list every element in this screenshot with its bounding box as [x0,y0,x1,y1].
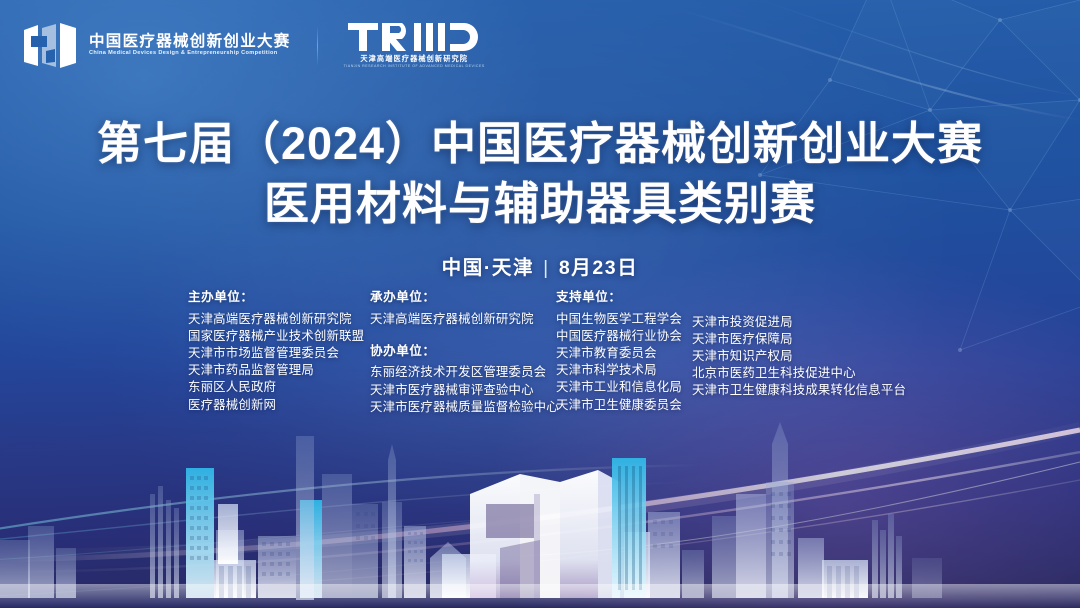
list-item: 医疗器械创新网 [188,397,370,414]
organizer-column-support-b: 天津市投资促进局 天津市医疗保障局 天津市知识产权局 北京市医药卫生科技促进中心… [692,291,906,416]
list-item: 天津市医疗保障局 [692,331,906,348]
co-organizer-heading: 协办单位： [370,345,556,358]
list-item: 天津市教育委员会 [556,345,692,362]
list-item: 天津市医疗器械质量监督检验中心 [370,399,556,416]
list-item: 天津市投资促进局 [692,314,906,331]
section-spacer [370,328,556,345]
competition-logo-cn: 中国医疗器械创新创业大赛 [89,34,291,50]
list-item: 国家医疗器械产业技术创新联盟 [188,328,370,345]
organizer-column-host: 主办单位： 天津高端医疗器械创新研究院 国家医疗器械产业技术创新联盟 天津市市场… [188,291,370,416]
list-item: 天津市医疗器械审评查验中心 [370,382,556,399]
host-heading: 主办单位： [188,291,370,304]
list-item: 天津市知识产权局 [692,348,906,365]
list-item: 东丽经济技术开发区管理委员会 [370,364,556,381]
list-item: 北京市医药卫生科技促进中心 [692,365,906,382]
open-door-logo-icon [22,22,78,69]
meta-separator: | [543,257,550,280]
trimd-logo[interactable]: 天津高端医疗器械创新研究院 TIANJIN RESEARCH INSTITUTE… [344,22,485,69]
event-meta: 中国·天津|8月23日 [0,251,1080,280]
list-item: 天津市卫生健康科技成果转化信息平台 [692,382,906,399]
trimd-logo-en: TIANJIN RESEARCH INSTITUTE OF ADVANCED M… [344,65,485,69]
poster-canvas: 中国医疗器械创新创业大赛 China Medical Devices Desig… [0,0,1080,608]
list-item: 天津市卫生健康委员会 [556,397,692,414]
competition-logo[interactable]: 中国医疗器械创新创业大赛 China Medical Devices Desig… [22,22,291,69]
organizer-column-organizer: 承办单位： 天津高端医疗器械创新研究院 协办单位： 东丽经济技术开发区管理委员会… [370,291,556,416]
city-skyline-illustration [0,408,1080,608]
main-title-line-2: 医用材料与辅助器具类别赛 [0,178,1080,230]
event-date: 8月23日 [559,257,639,279]
gate-monument-icon [470,470,620,598]
trimd-wordmark-icon [348,22,480,52]
organizer-block: 主办单位： 天津高端医疗器械创新研究院 国家医疗器械产业技术创新联盟 天津市市场… [188,291,906,416]
logo-divider [317,26,318,66]
support-heading: 支持单位： [556,291,692,304]
list-item: 天津高端医疗器械创新研究院 [188,311,370,328]
list-item: 天津市工业和信息化局 [556,379,692,396]
header-logos: 中国医疗器械创新创业大赛 China Medical Devices Desig… [22,22,485,69]
organizer-column-support-a: 支持单位： 中国生物医学工程学会 中国医疗器械行业协会 天津市教育委员会 天津市… [556,291,692,416]
organizer-heading: 承办单位： [370,291,556,304]
trimd-logo-cn: 天津高端医疗器械创新研究院 [360,55,468,62]
list-item: 天津高端医疗器械创新研究院 [370,311,556,328]
title-block: 第七届（2024）中国医疗器械创新创业大赛 医用材料与辅助器具类别赛 中国·天津… [0,118,1080,280]
competition-logo-en: China Medical Devices Design & Entrepren… [89,51,291,57]
list-item: 天津市药品监督管理局 [188,362,370,379]
list-item: 天津市市场监督管理委员会 [188,345,370,362]
list-item: 天津市科学技术局 [556,362,692,379]
list-item: 中国医疗器械行业协会 [556,328,692,345]
list-item: 中国生物医学工程学会 [556,311,692,328]
list-item: 东丽区人民政府 [188,379,370,396]
event-location: 中国·天津 [442,257,535,279]
main-title-line-1: 第七届（2024）中国医疗器械创新创业大赛 [0,118,1080,170]
